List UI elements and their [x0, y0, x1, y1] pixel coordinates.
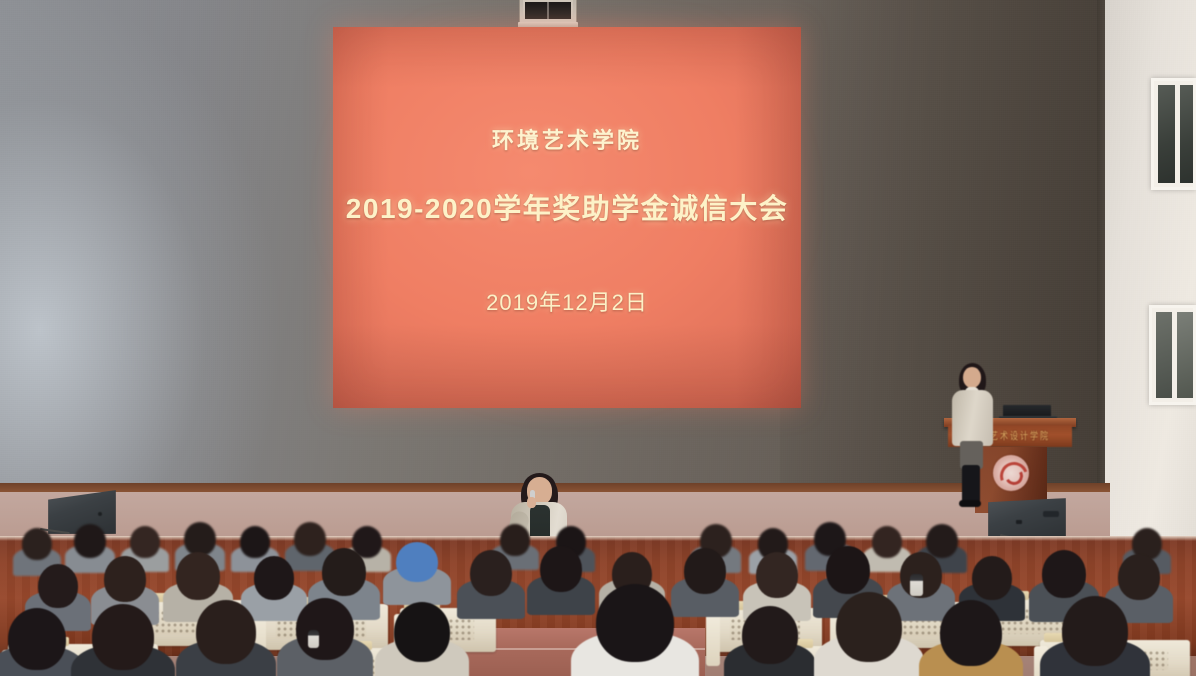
audience-member-head	[972, 556, 1012, 600]
head	[963, 367, 981, 388]
audience-member-head	[74, 524, 106, 558]
seated-student-audience	[0, 512, 1196, 676]
audience-member-head	[470, 550, 512, 596]
audience-member-head	[92, 604, 154, 670]
audience-member-head	[742, 606, 798, 664]
audience-member-head	[130, 526, 160, 558]
window-pane	[1180, 85, 1193, 183]
audience-member-head	[826, 546, 870, 594]
audience-member-head	[756, 552, 798, 598]
audience-member-head	[22, 528, 52, 560]
window-pane	[1158, 85, 1175, 183]
shoes	[959, 500, 981, 507]
audience-member-head	[926, 524, 958, 558]
slide-heading: 环境艺术学院	[492, 123, 642, 155]
auditorium-photo: 环境艺术学院 2019-2020学年奖助学金诚信大会 2019年12月2日 新海…	[0, 0, 1196, 676]
audience-member-head	[196, 600, 256, 664]
audience-member-head	[684, 548, 726, 594]
audience-member-head	[540, 546, 582, 592]
audience-member-head	[872, 526, 902, 558]
audience-member-head	[176, 552, 220, 600]
audience-member-head	[940, 600, 1002, 666]
audience-member-head	[254, 556, 294, 600]
seat-armrest	[706, 614, 720, 666]
audience-member-head	[1118, 554, 1160, 600]
audience-member-head	[240, 526, 270, 558]
slide-content: 环境艺术学院 2019-2020学年奖助学金诚信大会 2019年12月2日	[333, 27, 801, 408]
host-at-podium	[948, 363, 996, 513]
audience-member-head	[394, 602, 450, 662]
window-pane	[1156, 312, 1172, 398]
window-pane	[1177, 312, 1193, 398]
audience-member-head	[296, 598, 354, 660]
water-bottle	[308, 630, 319, 648]
audience-member-head	[8, 608, 66, 670]
audience-member-head	[396, 542, 438, 582]
audience-member-head	[322, 548, 366, 596]
spiral-emblem-icon	[993, 455, 1029, 491]
slide-date: 2019年12月2日	[486, 285, 648, 317]
audience-member-head	[38, 564, 78, 608]
slide-title: 2019-2020学年奖助学金诚信大会	[346, 187, 788, 227]
audience-member-head	[500, 524, 530, 556]
torso-coat	[952, 390, 993, 446]
audience-member-head	[1042, 550, 1086, 598]
audience-member-head	[104, 556, 146, 602]
audience-member-head	[596, 584, 674, 662]
lower-window	[1149, 305, 1196, 405]
hand	[527, 497, 536, 508]
legs	[962, 465, 980, 503]
audience-member-head	[1062, 596, 1128, 666]
audience-member-head	[836, 592, 902, 662]
back-wall-shadow	[780, 0, 1110, 560]
audience-member-head	[294, 522, 326, 556]
upper-window	[1151, 78, 1196, 190]
audience-member-head	[184, 522, 216, 556]
projection-screen: 环境艺术学院 2019-2020学年奖助学金诚信大会 2019年12月2日	[333, 27, 801, 408]
water-bottle	[910, 574, 923, 596]
